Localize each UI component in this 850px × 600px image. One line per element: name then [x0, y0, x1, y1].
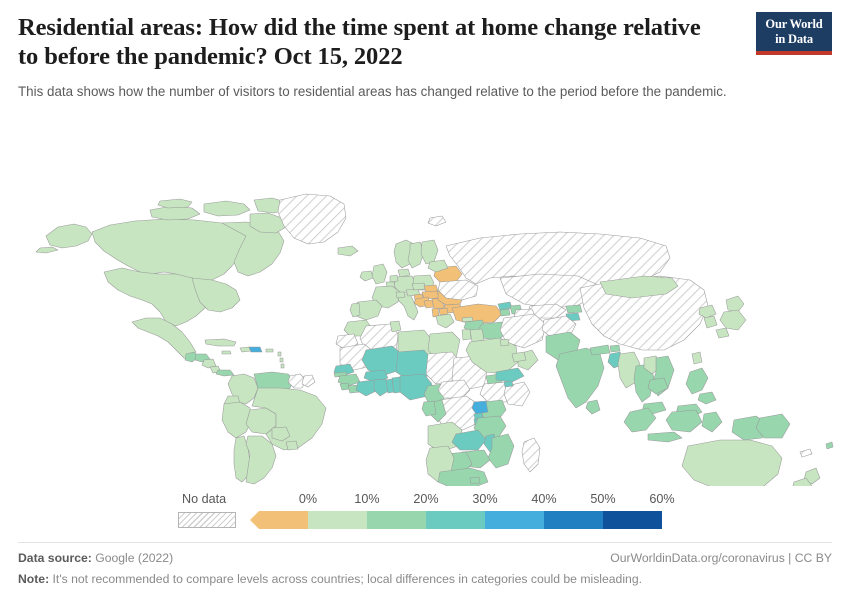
footer-note-value: It's not recommended to compare levels a… — [53, 572, 642, 586]
world-map-svg[interactable] — [0, 96, 850, 486]
region-cyprus — [462, 317, 473, 322]
legend-tick-4: 40% — [531, 492, 556, 506]
chart-footer: Data source: Google (2022) OurWorldinDat… — [18, 551, 832, 586]
region-alaska — [46, 224, 92, 248]
legend-bin-40-50[interactable] — [544, 511, 603, 529]
region-south-korea — [704, 316, 717, 328]
region-jamaica — [222, 351, 231, 354]
region-puerto-rico — [266, 349, 273, 352]
region-suriname — [302, 375, 315, 387]
legend-tick-2: 20% — [413, 492, 438, 506]
region-india — [556, 348, 604, 408]
region-gabon — [422, 401, 436, 416]
footer-note-label: Note: — [18, 572, 49, 586]
legend-bin-10-20[interactable] — [367, 511, 426, 529]
region-indonesia-java — [648, 432, 682, 442]
region-panama — [216, 370, 234, 376]
footer-divider — [18, 542, 832, 543]
region-philippines — [686, 368, 708, 394]
map-legend[interactable]: No data 0% 10% 20% 30% 40% 50% 60% — [178, 492, 688, 536]
region-greenland — [278, 194, 346, 244]
legend-bin-20-30[interactable] — [426, 511, 485, 529]
footer-top-row: Data source: Google (2022) OurWorldinDat… — [18, 551, 832, 565]
chart-header: Residential areas: How did the time spen… — [0, 0, 850, 100]
region-united-kingdom — [372, 264, 387, 284]
region-jordan — [470, 329, 484, 342]
legend-tick-3: 30% — [472, 492, 497, 506]
footer-note: Note: It's not recommended to compare le… — [18, 572, 832, 586]
legend-no-data-label: No data — [182, 492, 226, 506]
legend-tick-6: 60% — [649, 492, 674, 506]
region-svalbard — [428, 216, 446, 226]
region-papua-new-guinea — [756, 414, 790, 438]
region-aleutians — [36, 247, 58, 253]
owid-logo-line2: in Data — [760, 32, 828, 47]
legend-bin-below-0[interactable] — [250, 511, 308, 529]
region-bhutan — [610, 345, 620, 352]
region-sri-lanka — [586, 400, 600, 414]
data-source-label: Data source: — [18, 551, 92, 565]
region-uruguay — [286, 441, 298, 450]
region-lesser-antilles — [278, 352, 284, 368]
legend-bin-50-60[interactable] — [603, 511, 662, 529]
region-switzerland — [396, 292, 405, 298]
region-kuwait — [500, 339, 509, 346]
region-ireland — [360, 271, 373, 281]
region-portugal — [350, 303, 360, 317]
data-source: Data source: Google (2022) — [18, 551, 173, 565]
region-kyrgyzstan — [566, 305, 582, 313]
region-indonesia-sulawesi — [702, 412, 722, 432]
region-nepal — [590, 345, 610, 355]
region-lesotho — [470, 477, 480, 484]
legend-bin-0-10[interactable] — [308, 511, 367, 529]
region-new-caledonia — [800, 449, 812, 457]
region-australia — [682, 440, 782, 486]
owid-map-chart: Residential areas: How did the time spen… — [0, 0, 850, 600]
page-title: Residential areas: How did the time spen… — [18, 14, 708, 72]
legend-tick-1: 10% — [354, 492, 379, 506]
world-map[interactable] — [0, 96, 850, 486]
legend-bin-30-40[interactable] — [485, 511, 544, 529]
region-finland — [421, 240, 438, 264]
region-north-macedonia — [439, 308, 448, 315]
legend-colorbar[interactable] — [250, 511, 662, 529]
legend-tick-labels: No data 0% 10% 20% 30% 40% 50% 60% — [178, 492, 688, 509]
region-uae — [512, 352, 526, 362]
region-fiji — [826, 442, 833, 449]
region-denmark — [398, 269, 410, 277]
region-mozambique — [488, 434, 514, 468]
owid-logo-line1: Our World — [760, 17, 828, 32]
region-uganda — [472, 401, 488, 414]
region-indonesia-sumatra — [624, 408, 656, 432]
region-dominican-republic — [249, 347, 262, 352]
attribution-link[interactable]: OurWorldinData.org/coronavirus | CC BY — [610, 551, 832, 565]
data-source-value: Google (2022) — [95, 551, 173, 565]
legend-no-data-swatch[interactable] — [178, 512, 236, 528]
region-japan-honshu — [720, 310, 746, 330]
region-canada-victoria — [158, 199, 192, 208]
legend-bar-row[interactable] — [178, 511, 688, 529]
region-tunisia — [390, 321, 401, 332]
region-japan — [726, 296, 744, 312]
region-taiwan — [692, 352, 702, 364]
region-central-african-rep — [438, 380, 470, 398]
region-madagascar — [522, 438, 540, 472]
legend-tick-5: 50% — [590, 492, 615, 506]
region-cuba — [205, 339, 236, 346]
region-netherlands — [390, 275, 398, 282]
region-armenia — [500, 309, 510, 316]
region-israel — [462, 329, 471, 340]
region-canada-arctic-2 — [204, 201, 250, 216]
region-greece — [436, 314, 454, 328]
region-indonesia-borneo — [666, 410, 702, 432]
region-canada-arctic-1 — [150, 206, 200, 220]
legend-tick-0: 0% — [299, 492, 317, 506]
owid-logo[interactable]: Our World in Data — [756, 12, 832, 55]
region-philippines-s — [698, 392, 716, 404]
region-iceland — [338, 246, 358, 256]
region-japan-kyushu — [716, 328, 729, 338]
